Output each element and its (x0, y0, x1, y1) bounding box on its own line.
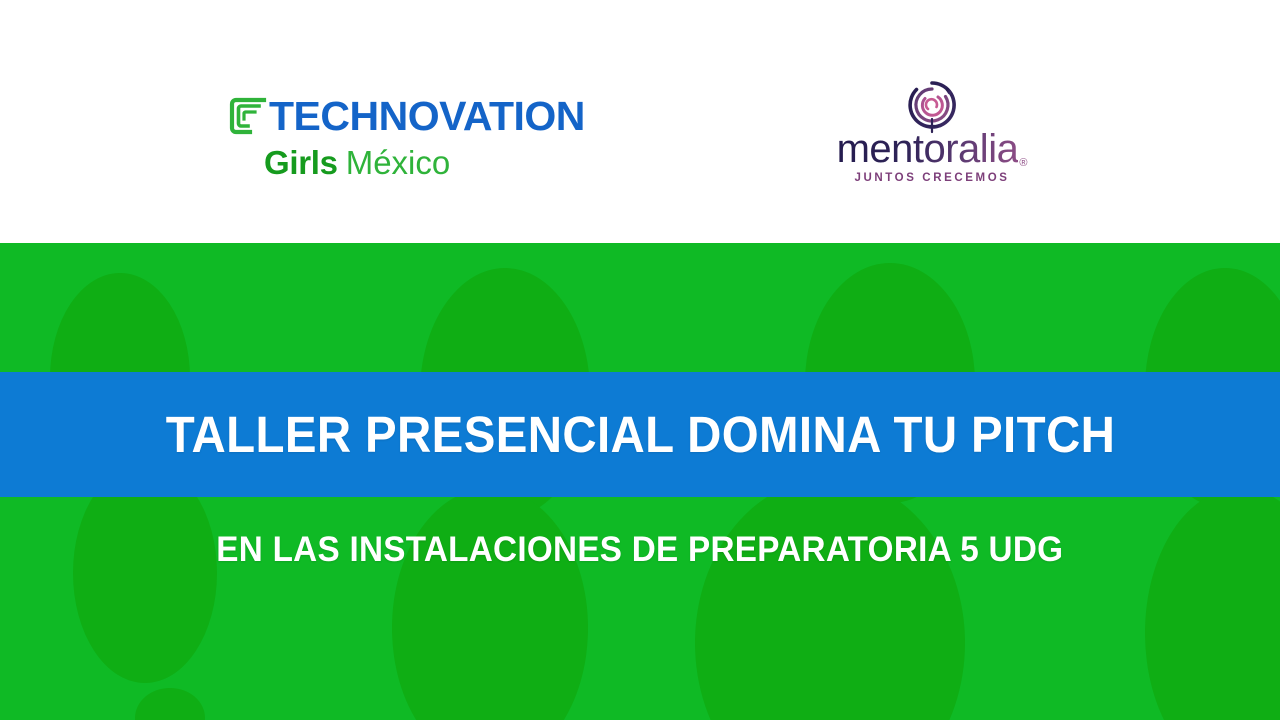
mentoralia-wordmark: mentoralia (837, 127, 1019, 171)
technovation-mexico-label: México (346, 144, 451, 182)
title-band: TALLER PRESENCIAL DOMINA TU PITCH (0, 372, 1280, 497)
technovation-primary-row: TECHNOVATION (228, 92, 588, 140)
technovation-girls-mexico-logo: TECHNOVATION Girls México (228, 92, 588, 192)
mentoralia-wordmark-row: mentoralia® (812, 128, 1052, 170)
technovation-girls-label: Girls (264, 144, 338, 182)
event-poster: TALLER PRESENCIAL DOMINA TU PITCH EN LAS… (0, 0, 1280, 720)
registered-trademark-icon: ® (1019, 157, 1027, 169)
technovation-secondary-row: Girls México (264, 144, 588, 182)
logo-header-band: TECHNOVATION Girls México (0, 0, 1280, 243)
page-title: TALLER PRESENCIAL DOMINA TU PITCH (165, 405, 1114, 464)
technovation-bracket-mark-icon (228, 96, 268, 136)
technovation-wordmark: TECHNOVATION (269, 95, 585, 137)
mentoralia-concentric-rings-icon (903, 76, 961, 134)
mentoralia-logo: mentoralia® JUNTOS CRECEMOS (812, 76, 1052, 186)
subtitle-row: EN LAS INSTALACIONES DE PREPARATORIA 5 U… (0, 525, 1280, 575)
mentoralia-tagline: JUNTOS CRECEMOS (812, 172, 1052, 184)
page-subtitle: EN LAS INSTALACIONES DE PREPARATORIA 5 U… (216, 530, 1063, 570)
